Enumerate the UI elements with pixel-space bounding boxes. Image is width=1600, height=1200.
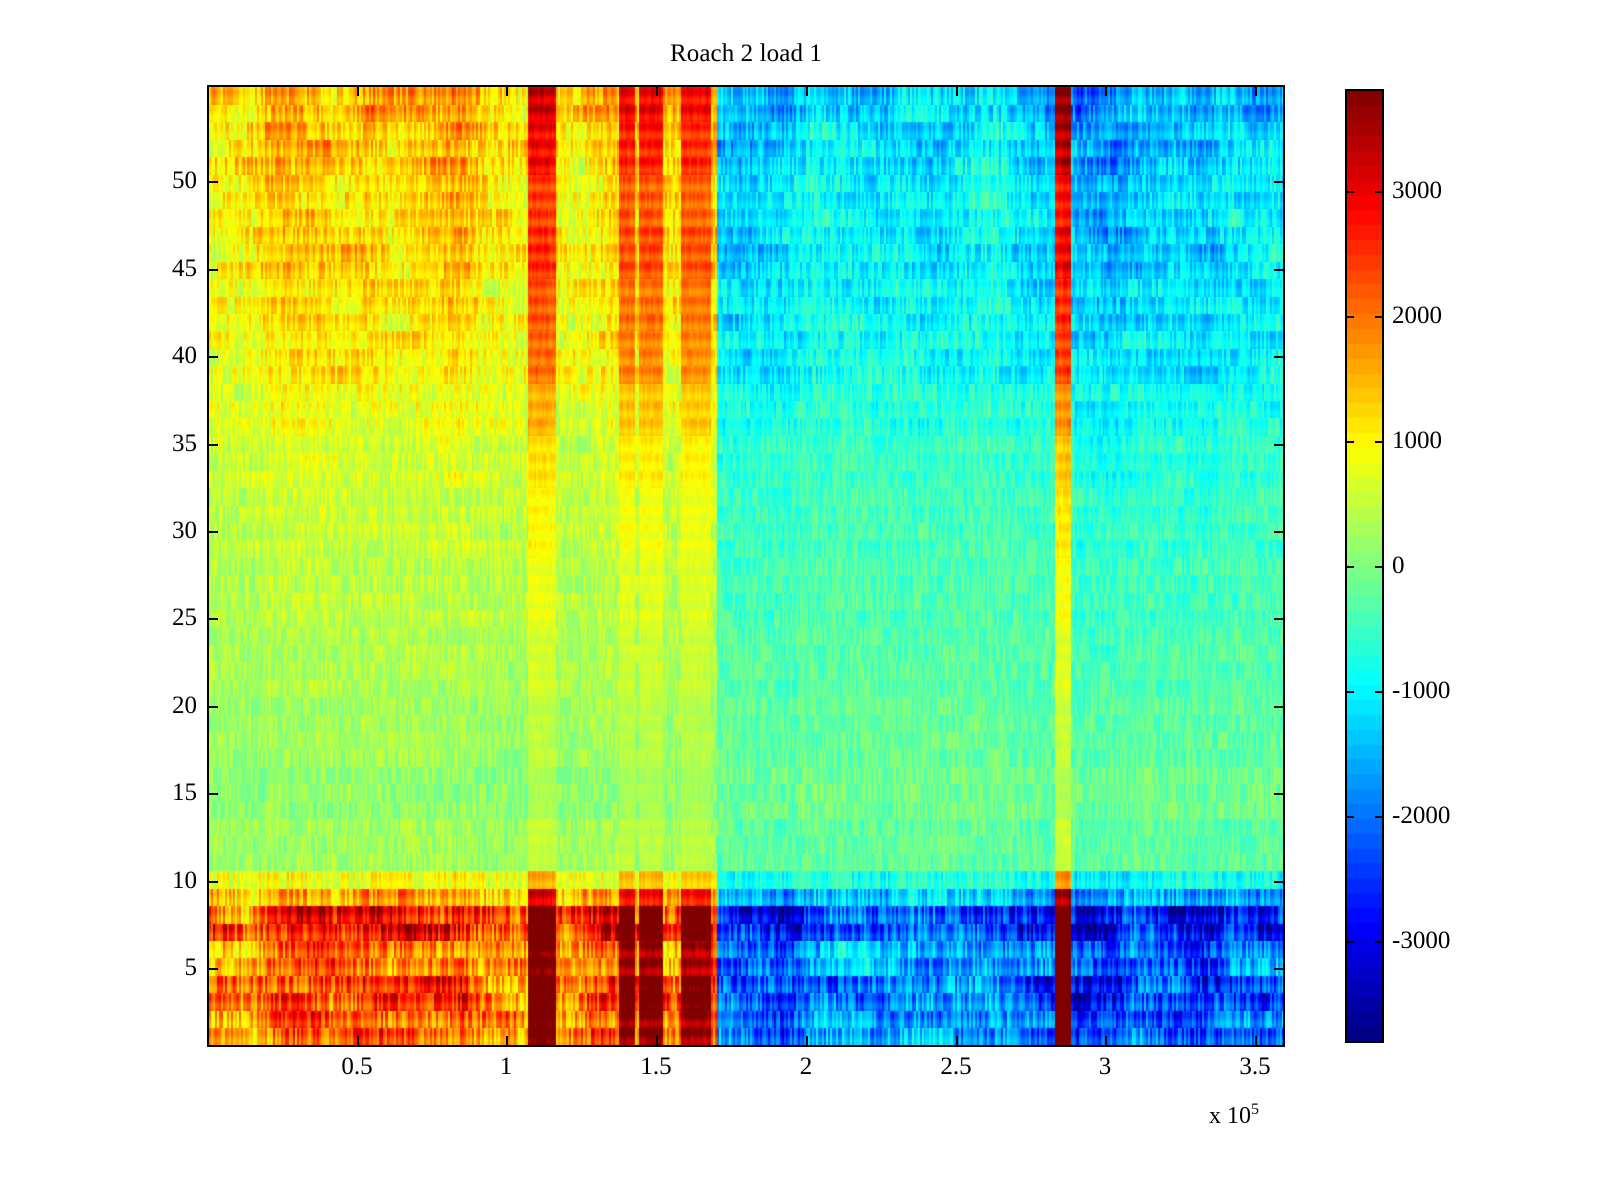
x-exponent-power: 5: [1251, 1101, 1259, 1118]
y-tick-mark-right: [1274, 706, 1285, 708]
figure-canvas: Roach 2 load 1 5101520253035404550 0.511…: [0, 0, 1600, 1200]
x-tick-mark: [806, 1036, 808, 1047]
x-tick-label: 0.5: [317, 1054, 397, 1079]
x-tick-label: 2: [766, 1054, 846, 1079]
colorbar-tick-mark-left: [1345, 816, 1354, 818]
colorbar-tick-mark-right: [1375, 316, 1384, 318]
colorbar-tick-mark-right: [1375, 816, 1384, 818]
y-tick-mark-right: [1274, 444, 1285, 446]
x-tick-label: 1: [466, 1054, 546, 1079]
y-tick-label: 35: [137, 431, 197, 456]
heatmap-axes[interactable]: [207, 85, 1285, 1047]
colorbar-tick-mark-left: [1345, 441, 1354, 443]
y-tick-mark-right: [1274, 618, 1285, 620]
x-tick-mark: [1105, 1036, 1107, 1047]
y-tick-mark: [207, 269, 218, 271]
x-tick-mark: [357, 1036, 359, 1047]
y-tick-label: 30: [137, 518, 197, 543]
colorbar-tick-mark-left: [1345, 316, 1354, 318]
colorbar-tick-mark-left: [1345, 941, 1354, 943]
y-tick-mark-right: [1274, 531, 1285, 533]
colorbar-tick-mark-right: [1375, 191, 1384, 193]
y-tick-label: 45: [137, 256, 197, 281]
x-exponent-base: x 10: [1209, 1103, 1251, 1129]
y-tick-label: 15: [137, 780, 197, 805]
colorbar-tick-label: 0: [1392, 553, 1405, 578]
y-tick-label: 40: [137, 343, 197, 368]
y-tick-mark: [207, 531, 218, 533]
x-tick-mark-top: [1255, 85, 1257, 96]
y-tick-mark: [207, 444, 218, 446]
colorbar-tick-mark-right: [1375, 441, 1384, 443]
x-tick-mark: [1255, 1036, 1257, 1047]
colorbar-tick-mark-right: [1375, 691, 1384, 693]
x-tick-mark-top: [806, 85, 808, 96]
colorbar-tick-mark-left: [1345, 566, 1354, 568]
y-tick-label: 5: [137, 955, 197, 980]
y-tick-mark: [207, 356, 218, 358]
x-tick-label: 3.5: [1215, 1054, 1295, 1079]
y-tick-mark: [207, 618, 218, 620]
y-tick-mark: [207, 881, 218, 883]
colorbar-tick-mark-right: [1375, 941, 1384, 943]
x-tick-label: 1.5: [616, 1054, 696, 1079]
y-tick-mark-right: [1274, 881, 1285, 883]
y-tick-mark: [207, 181, 218, 183]
y-tick-mark-right: [1274, 968, 1285, 970]
colorbar-tick-mark-left: [1345, 691, 1354, 693]
y-tick-mark-right: [1274, 356, 1285, 358]
heatmap-image[interactable]: [209, 87, 1283, 1045]
page-title: Roach 2 load 1: [207, 40, 1285, 68]
x-tick-label: 3: [1065, 1054, 1145, 1079]
x-tick-mark-top: [357, 85, 359, 96]
x-axis-exponent-label: x 105: [1209, 1101, 1259, 1130]
x-tick-mark-top: [656, 85, 658, 96]
y-tick-label: 25: [137, 605, 197, 630]
x-tick-mark-top: [956, 85, 958, 96]
colorbar-tick-label: -3000: [1392, 928, 1450, 953]
y-tick-mark-right: [1274, 269, 1285, 271]
colorbar-tick-label: -1000: [1392, 678, 1450, 703]
y-tick-mark-right: [1274, 793, 1285, 795]
y-tick-mark: [207, 793, 218, 795]
colorbar-tick-mark-left: [1345, 191, 1354, 193]
x-tick-mark: [506, 1036, 508, 1047]
colorbar-tick-label: -2000: [1392, 803, 1450, 828]
y-tick-label: 20: [137, 693, 197, 718]
x-tick-mark-top: [1105, 85, 1107, 96]
y-tick-label: 10: [137, 868, 197, 893]
y-tick-mark: [207, 706, 218, 708]
colorbar-tick-label: 3000: [1392, 178, 1442, 203]
colorbar-tick-mark-right: [1375, 566, 1384, 568]
x-tick-mark: [656, 1036, 658, 1047]
x-tick-label: 2.5: [916, 1054, 996, 1079]
x-tick-mark-top: [506, 85, 508, 96]
colorbar-tick-label: 2000: [1392, 303, 1442, 328]
y-tick-mark-right: [1274, 181, 1285, 183]
y-tick-label: 50: [137, 168, 197, 193]
colorbar-tick-label: 1000: [1392, 428, 1442, 453]
y-tick-mark: [207, 968, 218, 970]
x-tick-mark: [956, 1036, 958, 1047]
